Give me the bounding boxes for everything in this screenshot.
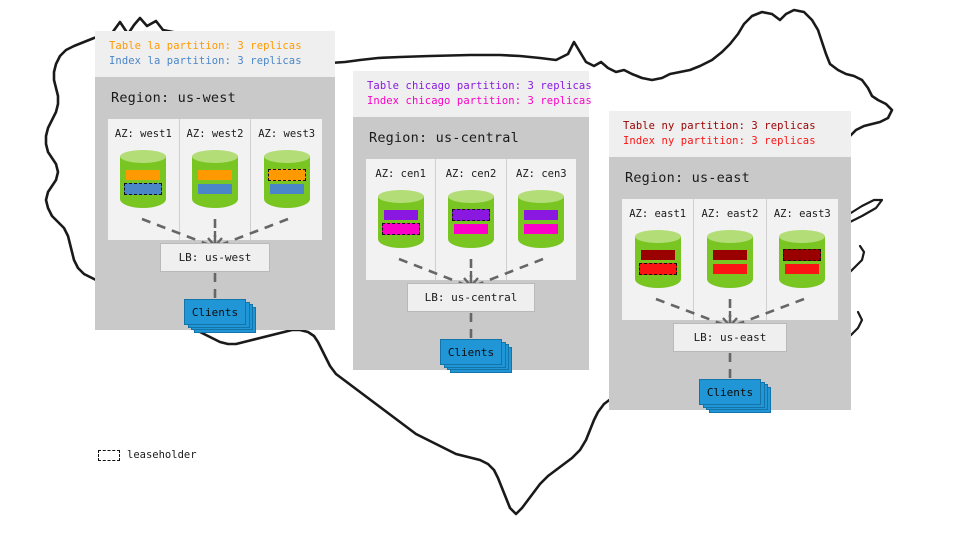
replica-band-index-leaseholder[interactable] [124, 183, 162, 195]
replica-band-table-leaseholder[interactable] [783, 249, 821, 261]
az-label: AZ: east2 [702, 208, 759, 220]
partition-line-index: Index ny partition: 3 replicas [623, 134, 839, 149]
cylinder-body [378, 196, 424, 248]
az-cell-cen2[interactable]: AZ: cen2 [436, 159, 506, 280]
region-panel-us-central[interactable]: Table chicago partition: 3 replicas Inde… [353, 71, 589, 370]
replica-band-table[interactable] [126, 170, 160, 180]
cylinder-top [779, 230, 825, 243]
az-label: AZ: cen1 [375, 168, 426, 180]
cylinder-body [192, 156, 238, 208]
az-cell-east3[interactable]: AZ: east3 [767, 199, 838, 320]
legend-label: leaseholder [127, 449, 197, 461]
partition-line-index: Index la partition: 3 replicas [109, 54, 323, 69]
long-island-path [846, 200, 882, 222]
partition-line-table: Table chicago partition: 3 replicas [367, 79, 577, 94]
az-cell-west3[interactable]: AZ: west3 [251, 119, 322, 240]
cylinder-top [518, 190, 564, 203]
cylinder-top [378, 190, 424, 203]
az-label: AZ: cen2 [446, 168, 497, 180]
cylinder-top [707, 230, 753, 243]
cylinder-top [264, 150, 310, 163]
region-title-us-central: Region: us-central [353, 117, 589, 157]
az-label: AZ: cen3 [516, 168, 567, 180]
az-strip-us-east: AZ: east1 AZ: east2 AZ: east3 [622, 199, 838, 320]
az-label: AZ: west2 [187, 128, 244, 140]
az-label: AZ: east3 [774, 208, 831, 220]
node-cylinder[interactable] [264, 150, 310, 212]
region-title-us-east: Region: us-east [609, 157, 851, 197]
az-label: AZ: west3 [258, 128, 315, 140]
lb-box-us-west[interactable]: LB: us-west [160, 243, 270, 272]
replica-band-table[interactable] [384, 210, 418, 220]
replica-band-index[interactable] [713, 264, 747, 274]
cylinder-top [635, 230, 681, 243]
az-strip-us-central: AZ: cen1 AZ: cen2 AZ: cen3 [366, 159, 576, 280]
az-cell-east2[interactable]: AZ: east2 [694, 199, 766, 320]
cylinder-body [518, 196, 564, 248]
az-label: AZ: east1 [629, 208, 686, 220]
az-cell-west1[interactable]: AZ: west1 [108, 119, 180, 240]
cylinder-top [192, 150, 238, 163]
clients-label[interactable]: Clients [699, 379, 761, 405]
region-header-us-east: Table ny partition: 3 replicas Index ny … [609, 111, 851, 157]
replica-band-index[interactable] [524, 224, 558, 234]
partition-line-table: Table ny partition: 3 replicas [623, 119, 839, 134]
node-cylinder[interactable] [448, 190, 494, 252]
region-header-us-west: Table la partition: 3 replicas Index la … [95, 31, 335, 77]
cylinder-body [448, 196, 494, 248]
florida-east-path [850, 246, 864, 272]
clients-stack-us-central[interactable]: Clients [440, 339, 512, 373]
cylinder-body [120, 156, 166, 208]
clients-label[interactable]: Clients [440, 339, 502, 365]
region-title-us-west: Region: us-west [95, 77, 335, 117]
az-cell-cen3[interactable]: AZ: cen3 [507, 159, 576, 280]
region-header-us-central: Table chicago partition: 3 replicas Inde… [353, 71, 589, 117]
lb-box-us-east[interactable]: LB: us-east [673, 323, 787, 352]
cylinder-body [707, 236, 753, 288]
node-cylinder[interactable] [120, 150, 166, 212]
leaseholder-legend: leaseholder [98, 449, 197, 461]
partition-line-index: Index chicago partition: 3 replicas [367, 94, 577, 109]
node-cylinder[interactable] [779, 230, 825, 292]
cylinder-body [264, 156, 310, 208]
az-cell-east1[interactable]: AZ: east1 [622, 199, 694, 320]
replica-band-table[interactable] [713, 250, 747, 260]
cylinder-body [779, 236, 825, 288]
region-panel-us-east[interactable]: Table ny partition: 3 replicas Index ny … [609, 111, 851, 410]
node-cylinder[interactable] [518, 190, 564, 252]
node-cylinder[interactable] [707, 230, 753, 292]
node-cylinder[interactable] [635, 230, 681, 292]
cylinder-top [448, 190, 494, 203]
replica-band-table[interactable] [524, 210, 558, 220]
replica-band-index[interactable] [785, 264, 819, 274]
replica-band-index[interactable] [270, 184, 304, 194]
replica-band-index[interactable] [454, 224, 488, 234]
replica-band-table[interactable] [198, 170, 232, 180]
az-strip-us-west: AZ: west1 AZ: west2 AZ: west3 [108, 119, 322, 240]
replica-band-table-leaseholder[interactable] [452, 209, 490, 221]
lb-box-us-central[interactable]: LB: us-central [407, 283, 535, 312]
replica-band-table-leaseholder[interactable] [268, 169, 306, 181]
az-label: AZ: west1 [115, 128, 172, 140]
node-cylinder[interactable] [192, 150, 238, 212]
clients-stack-us-east[interactable]: Clients [699, 379, 771, 413]
az-cell-cen1[interactable]: AZ: cen1 [366, 159, 436, 280]
replica-band-index-leaseholder[interactable] [382, 223, 420, 235]
az-cell-west2[interactable]: AZ: west2 [180, 119, 252, 240]
dashed-rect-icon [98, 450, 120, 461]
node-cylinder[interactable] [378, 190, 424, 252]
clients-label[interactable]: Clients [184, 299, 246, 325]
replica-band-index[interactable] [198, 184, 232, 194]
clients-stack-us-west[interactable]: Clients [184, 299, 256, 333]
cylinder-top [120, 150, 166, 163]
cylinder-body [635, 236, 681, 288]
region-panel-us-west[interactable]: Table la partition: 3 replicas Index la … [95, 31, 335, 330]
replica-band-index-leaseholder[interactable] [639, 263, 677, 275]
replica-band-table[interactable] [641, 250, 675, 260]
partition-line-table: Table la partition: 3 replicas [109, 39, 323, 54]
